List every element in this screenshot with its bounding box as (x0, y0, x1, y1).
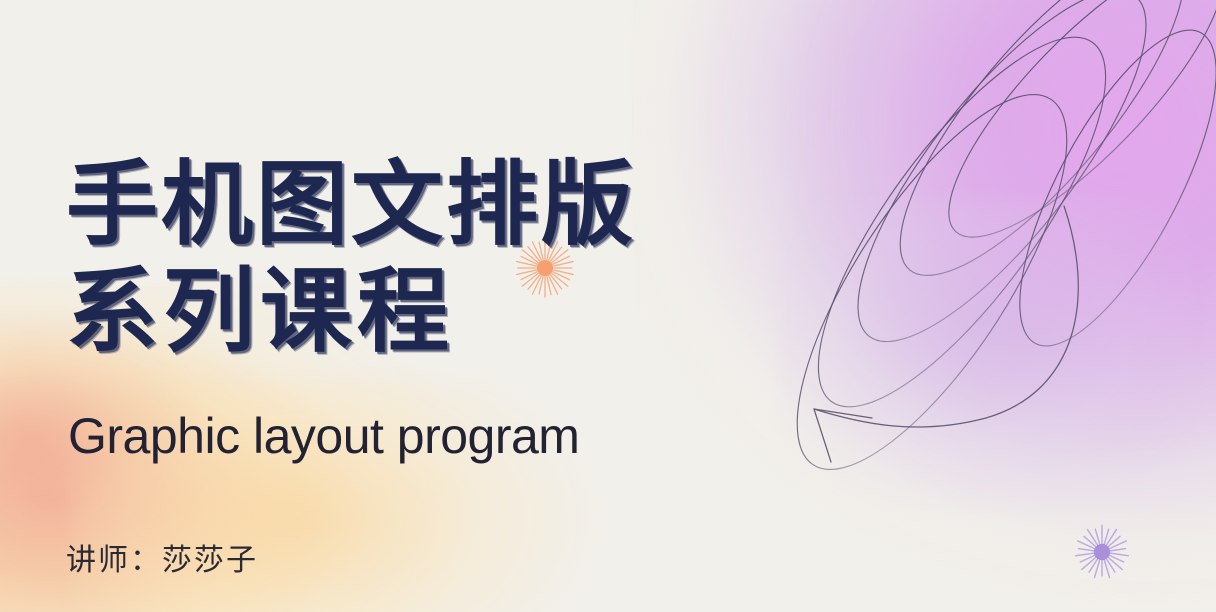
title-line-2: 系列课程 (66, 259, 636, 366)
poster-subtitle-english: Graphic layout program (68, 409, 579, 464)
instructor-credit: 讲师：莎莎子 (66, 535, 258, 579)
poster-content: 手机图文排版 系列课程 Graphic layout program 讲师：莎莎… (0, 0, 1216, 612)
title-line-1: 手机图文排版 (66, 152, 636, 259)
poster-title: 手机图文排版 系列课程 (66, 152, 636, 365)
course-cover-poster: 手机图文排版 系列课程 Graphic layout program 讲师：莎莎… (0, 0, 1216, 612)
